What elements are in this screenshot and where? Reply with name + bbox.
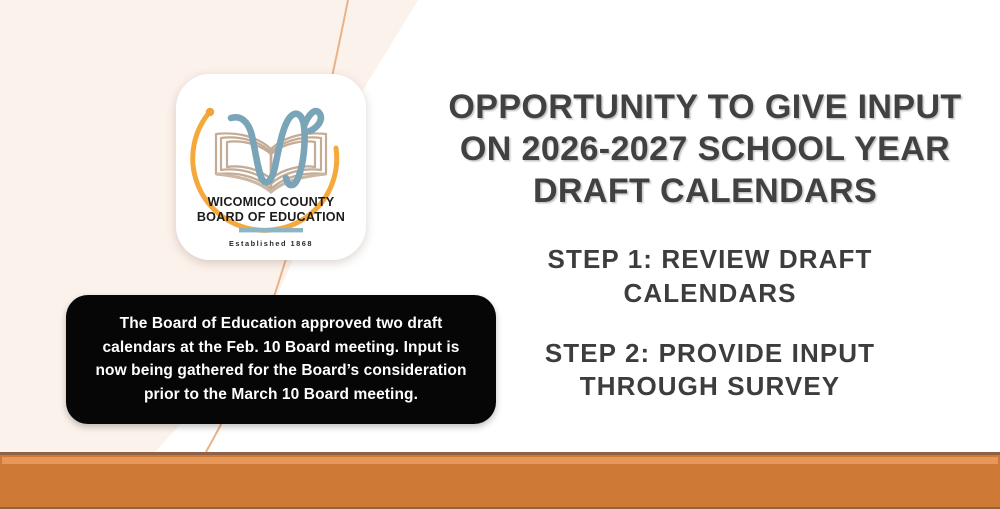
steps-list: STEP 1: REVIEW DRAFT CALENDARS STEP 2: P… xyxy=(490,243,930,404)
step-1-line-1: STEP 1: REVIEW DRAFT xyxy=(490,243,930,277)
logo-org-line-1: WICOMICO COUNTY xyxy=(208,195,335,209)
step-2-line-2: THROUGH SURVEY xyxy=(490,370,930,404)
logo-org-line-2: BOARD OF EDUCATION xyxy=(197,210,345,224)
headline-line-1: OPPORTUNITY TO GIVE INPUT xyxy=(420,86,990,128)
step-item-2: STEP 2: PROVIDE INPUT THROUGH SURVEY xyxy=(490,337,930,405)
poster-canvas: WICOMICO COUNTY BOARD OF EDUCATION Estab… xyxy=(0,0,1000,509)
callout-line-4: prior to the March 10 Board meeting. xyxy=(86,383,476,407)
page-title: OPPORTUNITY TO GIVE INPUT ON 2026-2027 S… xyxy=(420,86,990,212)
info-callout: The Board of Education approved two draf… xyxy=(66,295,496,424)
step-2-line-1: STEP 2: PROVIDE INPUT xyxy=(490,337,930,371)
bottom-accent-band xyxy=(0,452,1000,509)
headline-line-2: ON 2026-2027 SCHOOL YEAR xyxy=(420,128,990,170)
step-1-line-2: CALENDARS xyxy=(490,277,930,311)
wicomico-board-of-education-logo: WICOMICO COUNTY BOARD OF EDUCATION Estab… xyxy=(176,74,366,260)
callout-line-1: The Board of Education approved two draf… xyxy=(86,312,476,336)
step-item-1: STEP 1: REVIEW DRAFT CALENDARS xyxy=(490,243,930,311)
headline-line-3: DRAFT CALENDARS xyxy=(420,170,990,212)
callout-line-3: now being gathered for the Board’s consi… xyxy=(86,359,476,383)
callout-line-2: calendars at the Feb. 10 Board meeting. … xyxy=(86,336,476,360)
logo-established-text: Established 1868 xyxy=(229,239,313,248)
